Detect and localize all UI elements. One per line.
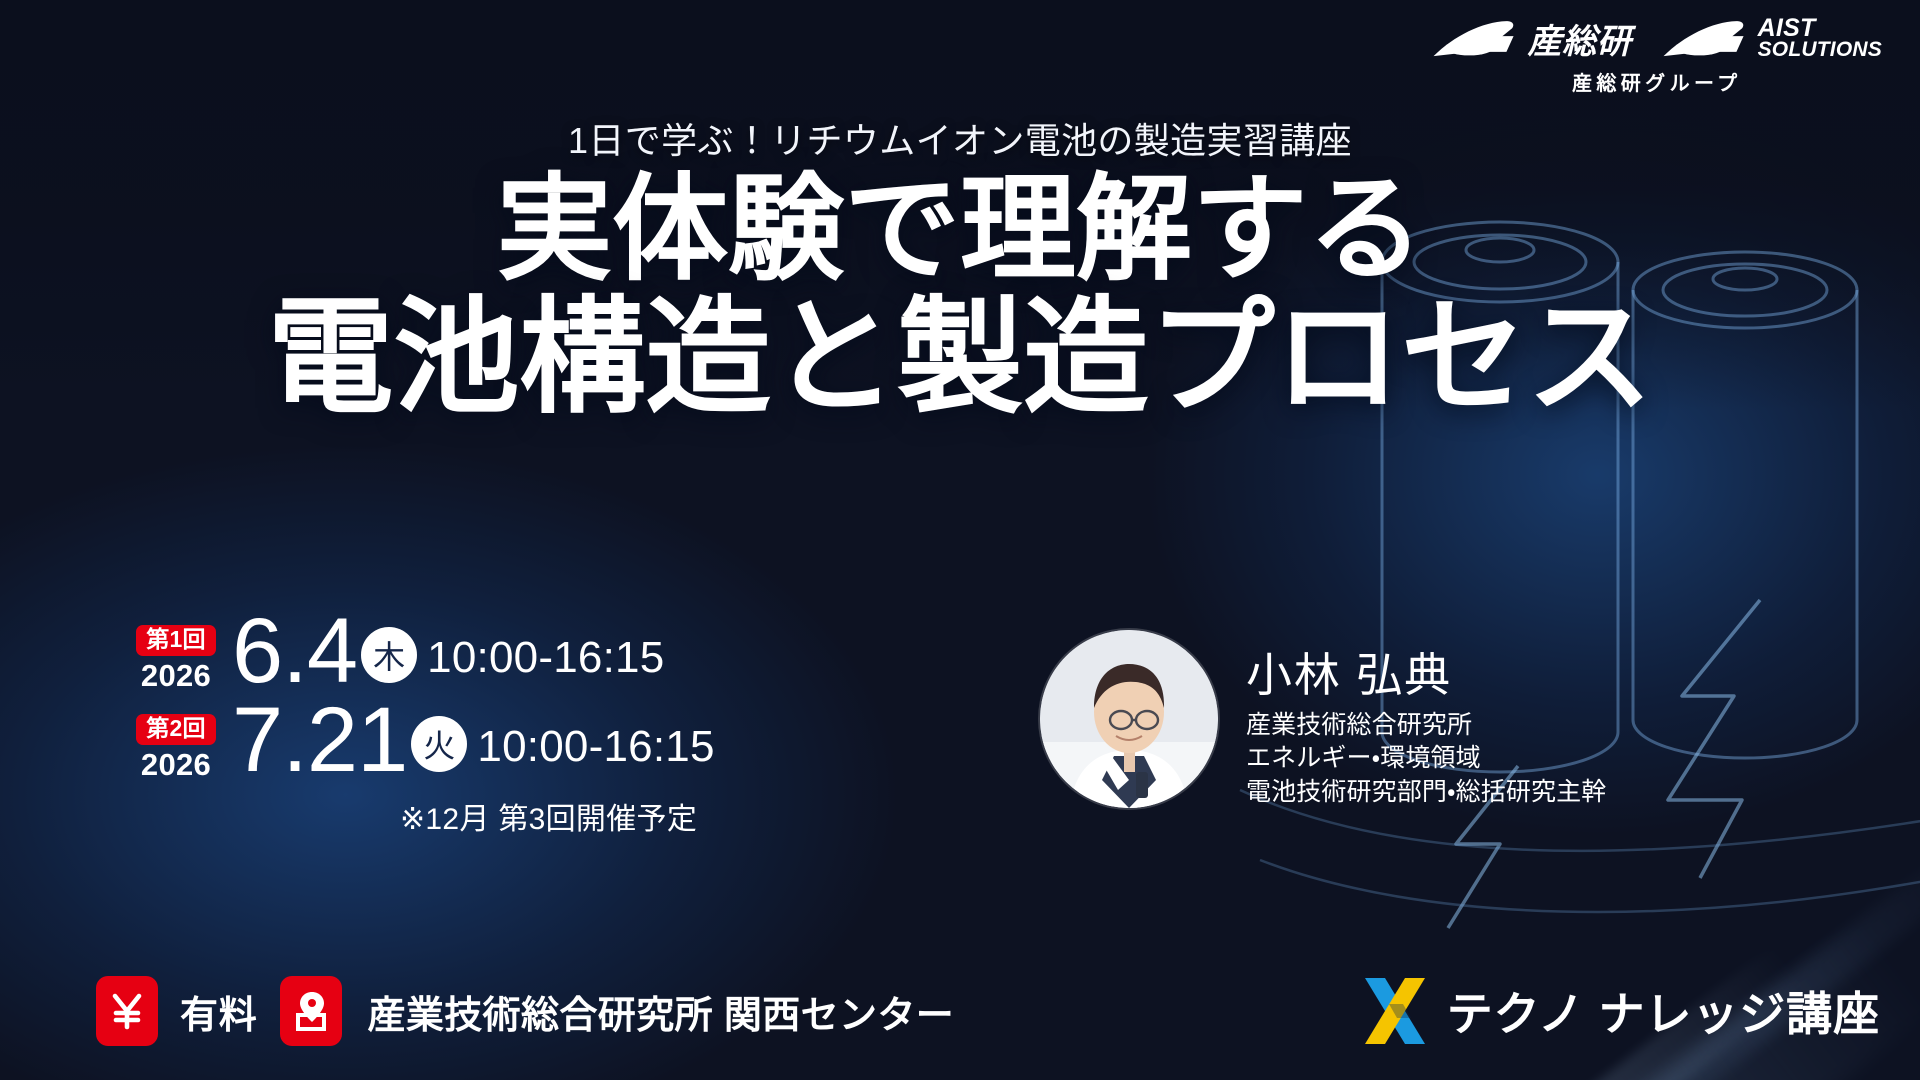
- course-brand-name: テクノ ナレッジ講座: [1447, 978, 1880, 1044]
- aist-swoosh-icon: [1662, 19, 1748, 59]
- session-row: 第2回 2026 7.21 火 10:00-16:15: [128, 701, 715, 780]
- title-line-1: 実体験で理解する: [0, 170, 1920, 289]
- footer-info: 有料 産業技術総合研究所 関西センター: [96, 976, 954, 1046]
- aist-logo: 産総研: [1432, 14, 1632, 63]
- yen-icon: [96, 976, 158, 1046]
- speaker-affiliation: 産業技術総合研究所 エネルギー・環境領域 電池技術研究部門・総括研究主幹: [1246, 709, 1606, 810]
- session-row: 第1回 2026 6.4 木 10:00-16:15: [128, 612, 715, 691]
- session-round: 第1回 2026: [128, 625, 224, 691]
- session-date: 7.21: [232, 701, 407, 780]
- speaker-block: 小林 弘典 産業技術総合研究所 エネルギー・環境領域 電池技術研究部門・総括研究…: [1040, 630, 1606, 809]
- speaker-details: 小林 弘典 産業技術総合研究所 エネルギー・環境領域 電池技術研究部門・総括研究…: [1246, 630, 1606, 809]
- affiliation-line-2: エネルギー・環境領域: [1246, 742, 1606, 776]
- techno-knowledge-x-icon: [1359, 974, 1433, 1048]
- speaker-avatar: [1040, 630, 1218, 808]
- seminar-banner: 産総研 AIST SOLUTIONS 産総研グループ 1日で学ぶ！リチウムイオン…: [0, 0, 1920, 1080]
- organization-logo-bar: 産総研 AIST SOLUTIONS 産総研グループ: [1432, 14, 1882, 96]
- group-label: 産総研グループ: [1572, 67, 1742, 96]
- course-brand-logo: テクノ ナレッジ講座: [1359, 974, 1880, 1048]
- session-year: 2026: [141, 660, 211, 691]
- affiliation-line-3: 電池技術研究部門・総括研究主幹: [1246, 776, 1606, 810]
- aist-solutions-line2: SOLUTIONS: [1758, 40, 1882, 59]
- aist-logo-text: 産総研: [1528, 14, 1632, 63]
- title-line-2: 電池構造と製造プロセス: [0, 293, 1920, 423]
- schedule-block: 第1回 2026 6.4 木 10:00-16:15 第2回 2026 7.21…: [128, 612, 715, 838]
- session-year: 2026: [141, 749, 211, 780]
- session-round: 第2回 2026: [128, 714, 224, 780]
- aist-solutions-line1: AIST: [1758, 17, 1882, 40]
- affiliation-line-1: 産業技術総合研究所: [1246, 709, 1606, 743]
- map-pin-icon: [280, 976, 342, 1046]
- session-day-of-week: 木: [361, 627, 417, 683]
- venue-label: 産業技術総合研究所 関西センター: [368, 984, 955, 1039]
- session-time: 10:00-16:15: [427, 636, 664, 680]
- session-date: 6.4: [232, 612, 357, 691]
- session-day-of-week: 火: [411, 716, 467, 772]
- round-badge: 第1回: [136, 625, 215, 656]
- round-badge: 第2回: [136, 714, 215, 745]
- page-title: 実体験で理解する 電池構造と製造プロセス: [0, 170, 1920, 423]
- schedule-note: ※12月 第3回開催予定: [400, 794, 715, 838]
- speaker-name: 小林 弘典: [1246, 650, 1606, 701]
- aist-solutions-logo: AIST SOLUTIONS: [1662, 17, 1882, 59]
- aist-swoosh-icon: [1432, 19, 1518, 59]
- session-time: 10:00-16:15: [477, 725, 714, 769]
- fee-label: 有料: [180, 984, 258, 1039]
- kicker-text: 1日で学ぶ！リチウムイオン電池の製造実習講座: [0, 112, 1920, 164]
